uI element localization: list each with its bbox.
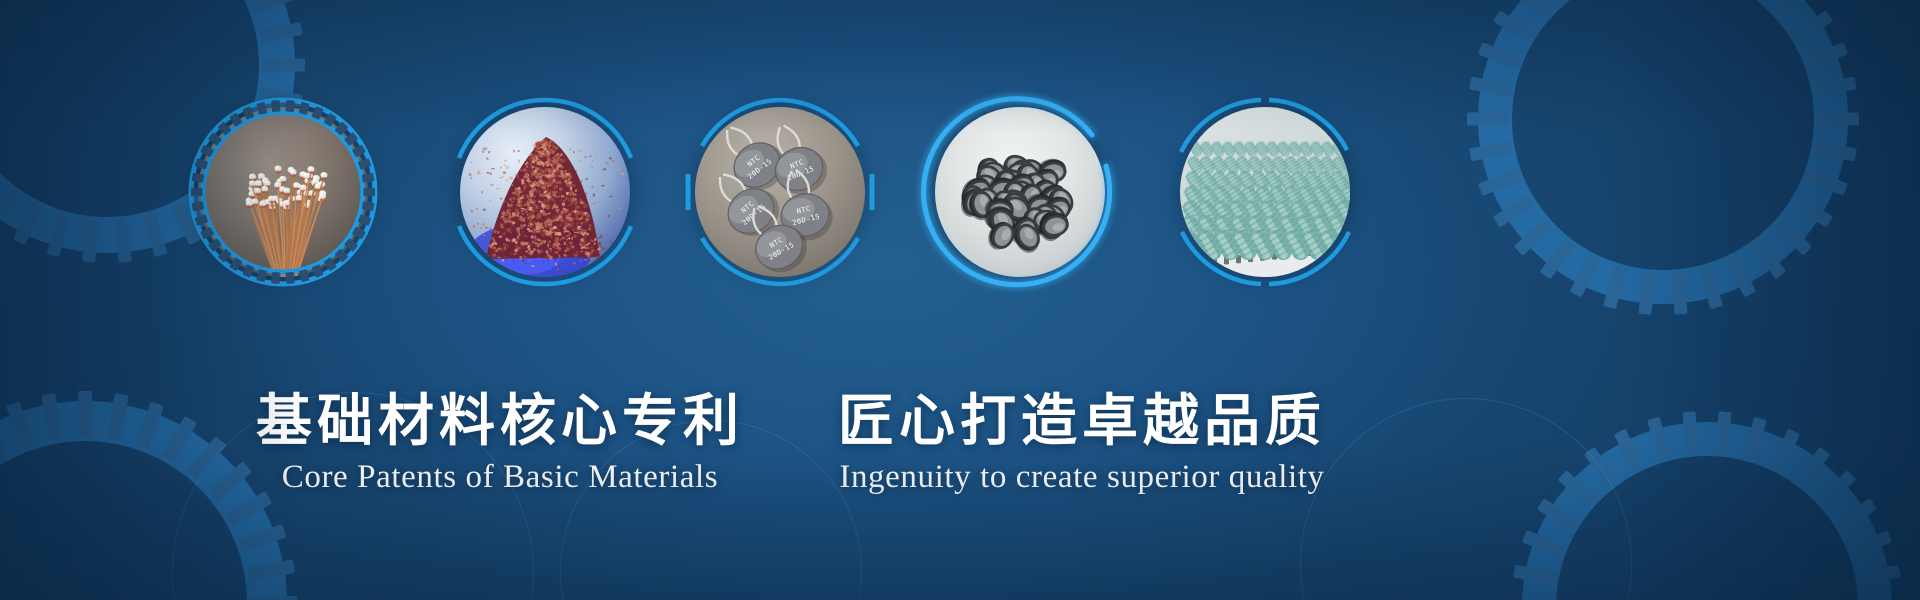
headline-superior-quality: 匠心打造卓越品质 Ingenuity to create superior qu… [812, 392, 1352, 498]
headline-cn-core-patents: 基础材料核心专利 [250, 392, 750, 452]
headline-cn-superior-quality: 匠心打造卓越品质 [812, 392, 1352, 452]
headline-core-patents: 基础材料核心专利 Core Patents of Basic Materials [250, 392, 750, 498]
headline-en-core-patents: Core Patents of Basic Materials [250, 458, 750, 498]
headline-en-superior-quality: Ingenuity to create superior quality [812, 458, 1352, 498]
promo-banner: NTC20D-15NTC20D-15NTC20D-15NTC20D-15NTC2… [0, 0, 1920, 600]
headline-group: 基础材料核心专利 Core Patents of Basic Materials… [0, 0, 1920, 600]
